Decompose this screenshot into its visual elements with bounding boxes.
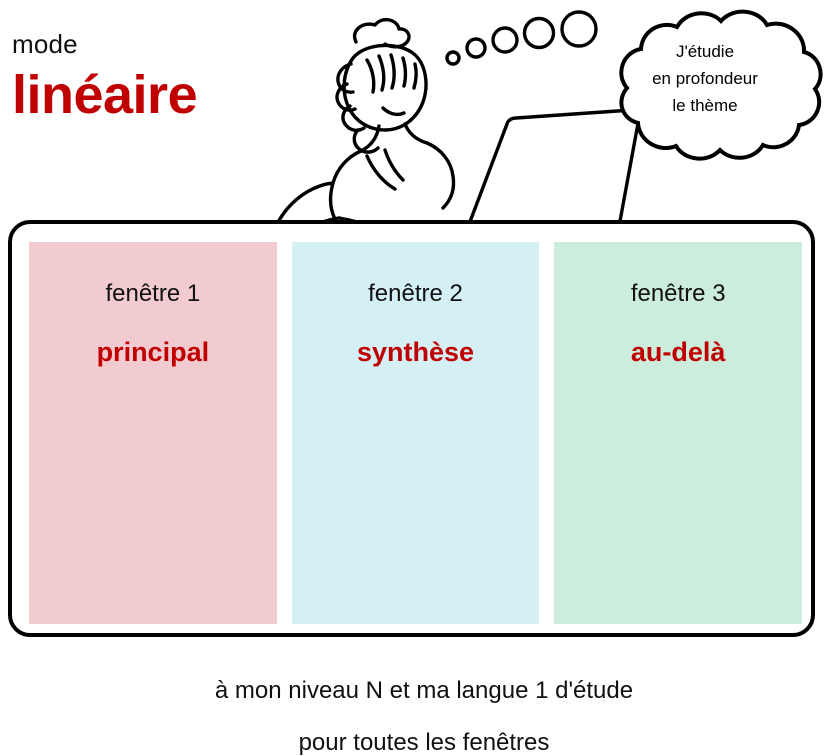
bubble-line-1: J'étudie (676, 42, 734, 61)
thought-bubble-icon: J'étudie en profondeur le thème (621, 12, 820, 159)
mode-value: linéaire (12, 67, 262, 124)
title-block: mode linéaire (12, 30, 262, 123)
thought-bubble-trail-icon (447, 12, 596, 64)
window-panel-3[interactable]: fenêtre 3 au-delà (554, 242, 802, 624)
window-panel-3-name: au-delà (554, 337, 802, 368)
caption-line-2: pour toutes les fenêtres (29, 731, 819, 755)
window-panel-1-name: principal (29, 337, 277, 368)
panels-row: fenêtre 1 principal fenêtre 2 synthèse f… (29, 242, 802, 624)
window-panel-3-head: fenêtre 3 (554, 280, 802, 308)
window-panel-1[interactable]: fenêtre 1 principal (29, 242, 277, 624)
window-panel-1-head: fenêtre 1 (29, 280, 277, 308)
bubble-line-3: le thème (672, 96, 737, 115)
illustration-area: J'étudie en profondeur le thème (255, 0, 827, 220)
mode-label: mode (12, 30, 262, 59)
caption-block: à mon niveau N et ma langue 1 d'étude po… (29, 679, 819, 755)
window-panel-2-head: fenêtre 2 (292, 280, 540, 308)
caption-line-1: à mon niveau N et ma langue 1 d'étude (29, 679, 819, 703)
window-panel-2-name: synthèse (292, 337, 540, 368)
windows-frame: fenêtre 1 principal fenêtre 2 synthèse f… (8, 220, 815, 637)
bubble-line-2: en profondeur (652, 69, 758, 88)
window-panel-2[interactable]: fenêtre 2 synthèse (292, 242, 540, 624)
person-at-laptop-icon (269, 20, 640, 220)
